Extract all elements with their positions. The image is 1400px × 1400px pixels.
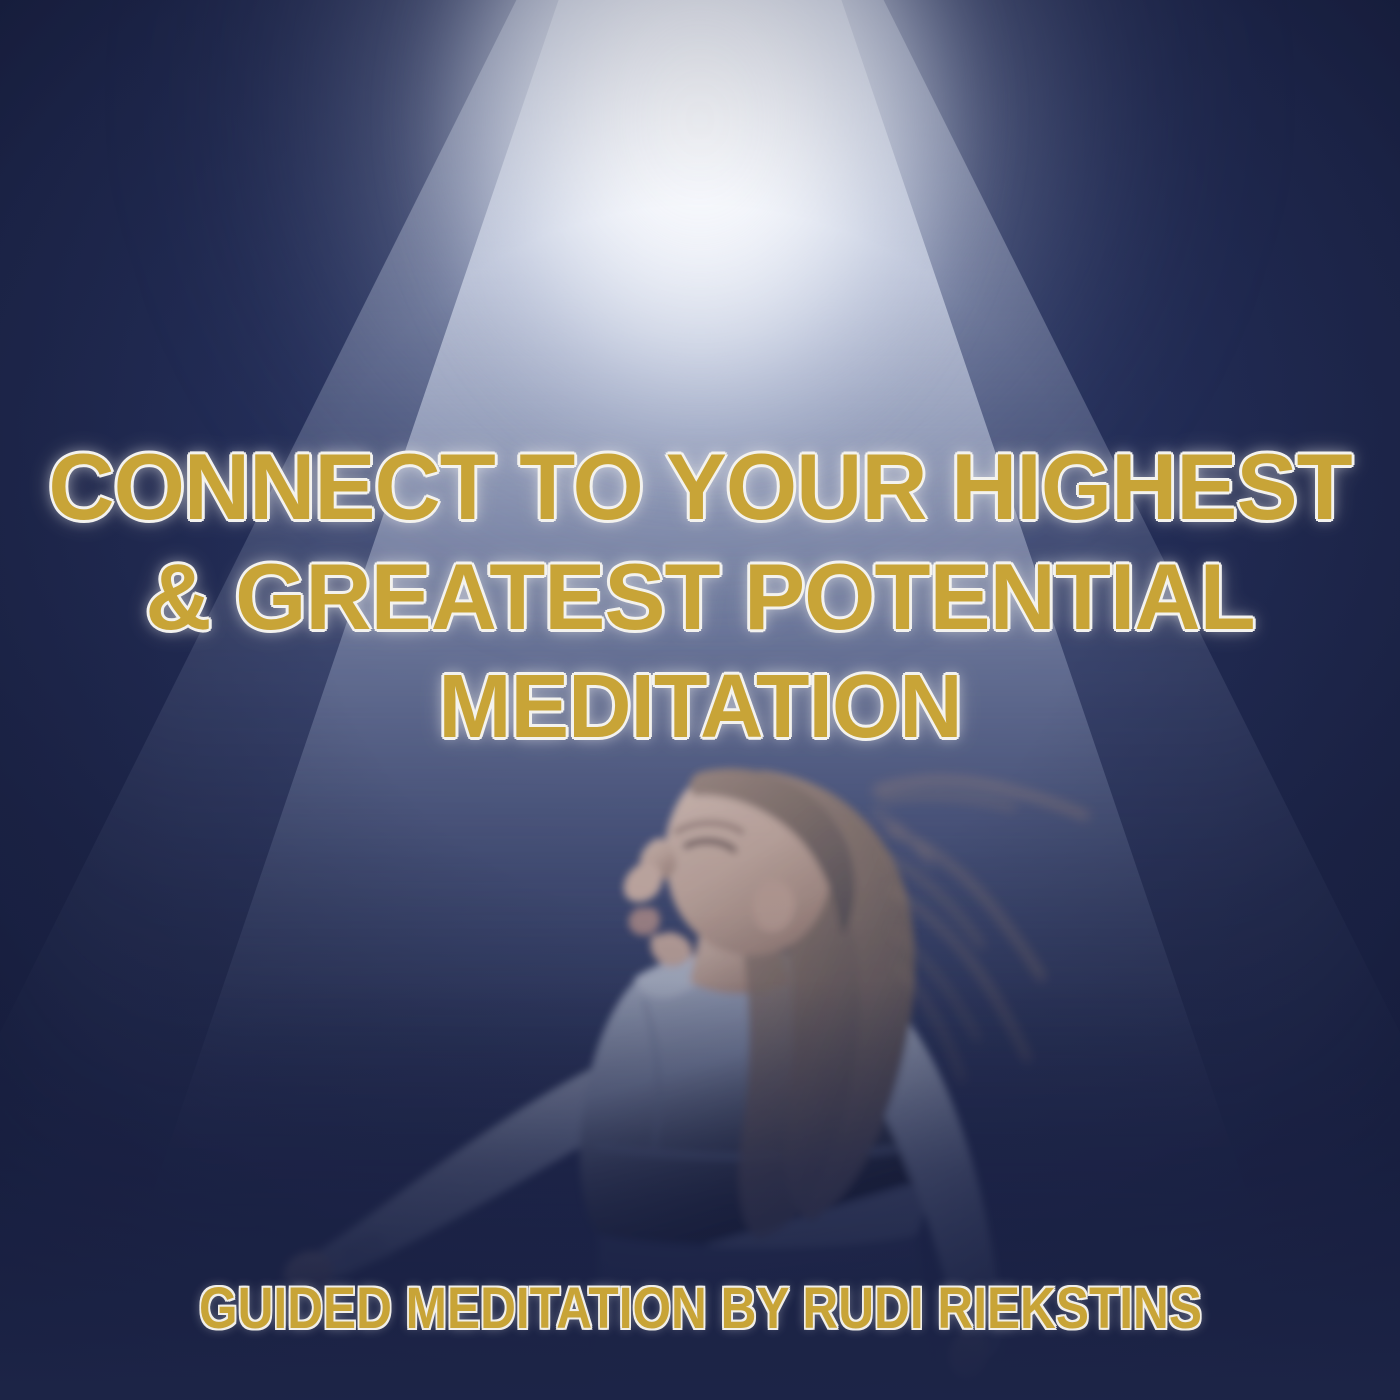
cover-artwork-canvas: CONNECT TO YOUR HIGHEST & GREATEST POTEN…	[0, 0, 1400, 1400]
nose	[624, 862, 663, 902]
right-hand	[949, 1330, 988, 1378]
left-hand	[284, 1251, 333, 1293]
chin	[650, 932, 692, 966]
woman-figure-illustration	[0, 0, 1400, 1400]
lips	[628, 908, 660, 935]
